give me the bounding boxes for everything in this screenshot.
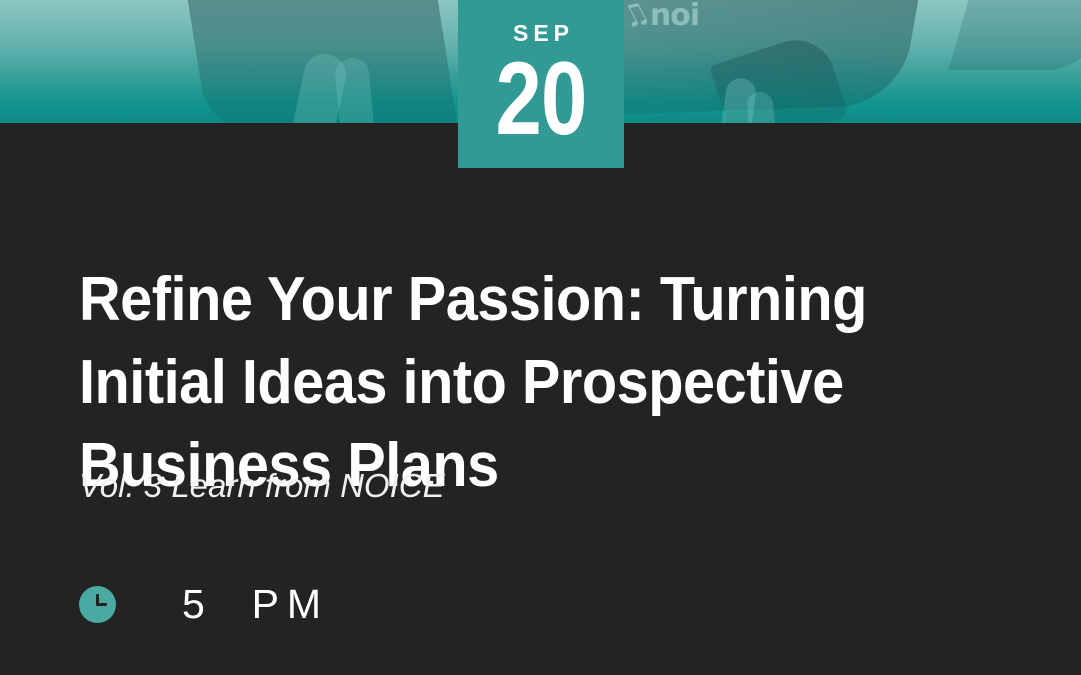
event-subtitle: Vol. 3 Learn from NOICE <box>79 467 445 505</box>
event-time-row: 5 PM <box>79 584 329 625</box>
event-details: Refine Your Passion: Turning Initial Ide… <box>0 123 1081 675</box>
photo-shape-far-right <box>949 0 1081 70</box>
date-badge-day: 20 <box>475 47 608 151</box>
clock-minute-hand-icon <box>96 603 107 606</box>
event-card: ♫noi SEP 20 Refine Your Passion: Turning… <box>0 0 1081 675</box>
date-badge: SEP 20 <box>458 0 624 168</box>
brand-wordmark: ♫noi <box>622 0 699 33</box>
event-time-text: 5 PM <box>182 584 329 625</box>
brand-wordmark-text: noi <box>650 0 699 33</box>
clock-icon <box>79 586 116 623</box>
